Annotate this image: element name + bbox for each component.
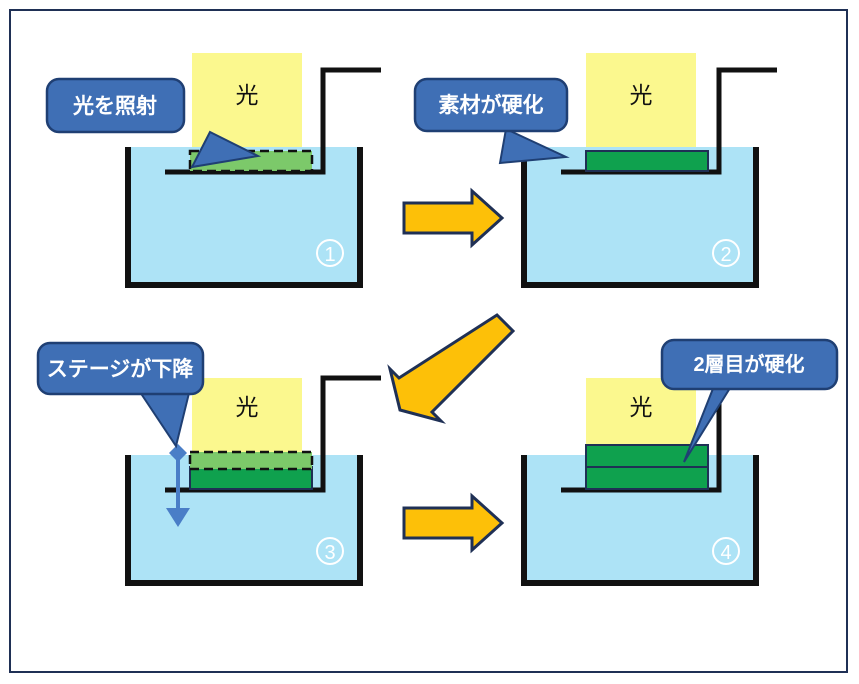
flow-arrow-2-to-3 [390,315,513,421]
callout-label-2: 素材が硬化 [439,93,544,117]
flow-arrow-1-to-2 [404,191,502,245]
panel-4: 光 4 2層目が硬化 [524,340,837,585]
right-arrow-icon [404,191,502,245]
light-label-3: 光 [236,394,259,420]
callout-2[interactable]: 素材が硬化 [415,79,567,163]
light-label-1: 光 [236,82,259,108]
light-label-4: 光 [630,394,653,420]
callout-label-3: ステージが下降 [47,357,195,381]
cured-layer-2 [586,151,708,171]
light-label-2: 光 [630,82,653,108]
diagram-canvas: 光 1 光を照射 光 2 素材が硬化 [0,0,859,684]
diagonal-arrow-icon [390,315,513,421]
step-number-4: 4 [720,542,731,564]
callout-tail-3 [140,389,190,446]
panel-3: 光 3 ステージが下降 [38,343,381,585]
step-number-1: 1 [324,244,335,266]
callout-3[interactable]: ステージが下降 [38,343,203,446]
right-arrow-icon-2 [404,496,502,550]
panel-1: 光 1 光を照射 [47,53,381,287]
cured-layer-4-bottom [586,467,708,489]
callout-label-1: 光を照射 [72,94,157,118]
diagram-graphics: 光 1 光を照射 光 2 素材が硬化 [0,0,859,684]
panel-2: 光 2 素材が硬化 [415,53,777,287]
callout-tail-2 [500,129,566,163]
uncured-layer-3 [190,452,312,469]
step-number-3: 3 [324,542,335,564]
cured-layer-3 [190,467,312,489]
step-number-2: 2 [720,244,731,266]
flow-arrow-3-to-4 [404,496,502,550]
callout-label-4: 2層目が硬化 [693,352,804,376]
